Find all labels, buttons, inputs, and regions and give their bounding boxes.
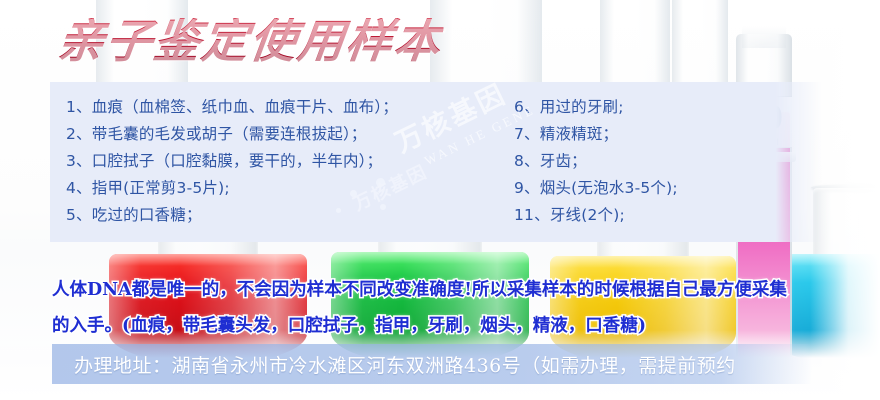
sample-list-right-column: 6、用过的牙刷; 7、精液精斑； 8、牙齿； 9、烟头(无泡水3-5个); 11… [506, 94, 806, 242]
list-item: 8、牙齿； [514, 148, 806, 175]
list-item: 9、烟头(无泡水3-5个); [514, 175, 806, 202]
sample-list-panel: 1、血痕（血棉签、纸巾血、血痕干片、血布）； 2、带毛囊的毛发或胡子（需要连根拔… [50, 82, 822, 242]
address-text: 办理地址：湖南省永州市冷水滩区河东双洲路436号（如需办理，需提前预约 [52, 351, 736, 378]
sample-list-left-column: 1、血痕（血棉签、纸巾血、血痕干片、血布）； 2、带毛囊的毛发或胡子（需要连根拔… [66, 94, 506, 242]
address-bar: 办理地址：湖南省永州市冷水滩区河东双洲路436号（如需办理，需提前预约 [52, 344, 812, 384]
list-item: 5、吃过的口香糖； [66, 202, 506, 229]
poster-image: 50 DIN ml WA 亲子鉴定使用样本 1、血痕（血棉签、纸巾血、血痕干片、… [0, 0, 880, 400]
page-title: 亲子鉴定使用样本 [55, 18, 445, 64]
list-item: 6、用过的牙刷; [514, 94, 806, 121]
list-item: 7、精液精斑； [514, 121, 806, 148]
info-paragraph-line-2: 的入手。(血痕，带毛囊头发，口腔拭子，指甲，牙刷，烟头，精液，口香糖) [52, 308, 852, 344]
info-paragraph-line-1: 人体DNA都是唯一的，不会因为样本不同改变准确度!所以采集样本的时候根据自己最方… [52, 280, 787, 300]
list-item: 3、口腔拭子（口腔黏膜，要干的，半年内）； [66, 148, 506, 175]
list-item: 1、血痕（血棉签、纸巾血、血痕干片、血布）； [66, 94, 506, 121]
list-item: 2、带毛囊的毛发或胡子（需要连根拔起）； [66, 121, 506, 148]
list-item: 4、指甲(正常剪3-5片); [66, 175, 506, 202]
info-paragraph: 人体DNA都是唯一的，不会因为样本不同改变准确度!所以采集样本的时候根据自己最方… [52, 272, 852, 344]
list-item: 11、牙线(2个); [514, 202, 806, 229]
